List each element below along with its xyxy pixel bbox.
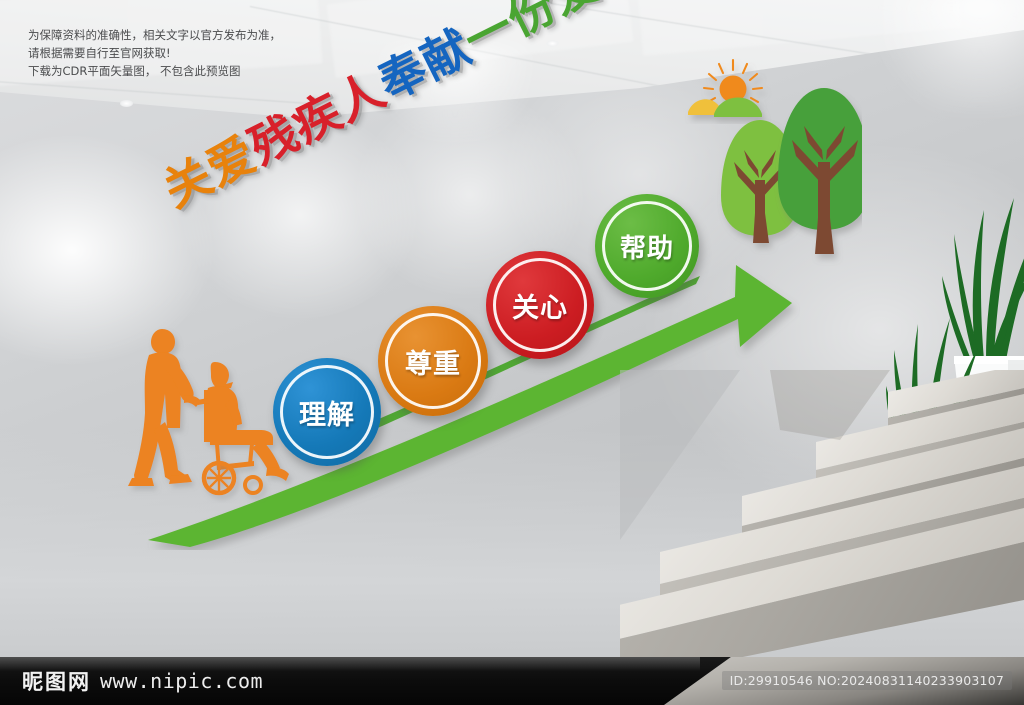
site-logo[interactable]: 昵图网 www.nipic.com — [22, 666, 263, 696]
badge-respect[interactable]: 尊重 — [378, 306, 488, 416]
watermark-bar: 昵图网 www.nipic.com ID:29910546 NO:2024083… — [0, 657, 1024, 705]
badge-care[interactable]: 关心 — [486, 251, 594, 359]
staircase — [620, 370, 1024, 670]
asset-id-label: ID:29910546 NO:20240831140233903107 — [722, 671, 1012, 690]
tree-large — [778, 88, 862, 254]
caregiver-wheelchair-silhouette — [118, 318, 303, 503]
screenshot-canvas: 关爱 残疾人 奉献 一份爱 理解 尊重 关心 帮助 — [0, 0, 1024, 705]
badge-help[interactable]: 帮助 — [595, 194, 699, 298]
notice-line-2: 请根据需要自行至官网获取! — [28, 44, 358, 62]
preview-notice: 为保障资料的准确性，相关文字以官方发布为准， 请根据需要自行至官网获取! 下载为… — [28, 26, 358, 80]
badge-label: 关心 — [512, 286, 568, 325]
badge-label: 理解 — [299, 393, 355, 432]
badge-label: 尊重 — [405, 342, 461, 381]
tree-sun-decoration — [672, 58, 862, 303]
light-glow — [880, 0, 1024, 110]
ceiling-downlight — [120, 100, 133, 107]
notice-line-1: 为保障资料的准确性，相关文字以官方发布为准， — [28, 26, 358, 44]
badge-label: 帮助 — [620, 228, 674, 265]
notice-line-3: 下载为CDR平面矢量图， 不包含此预览图 — [28, 62, 358, 80]
sun-icon — [704, 60, 762, 103]
site-url: www.nipic.com — [100, 669, 263, 693]
site-name-cn: 昵图网 — [22, 666, 91, 696]
headline-segment-4: 一份爱 — [458, 0, 608, 65]
